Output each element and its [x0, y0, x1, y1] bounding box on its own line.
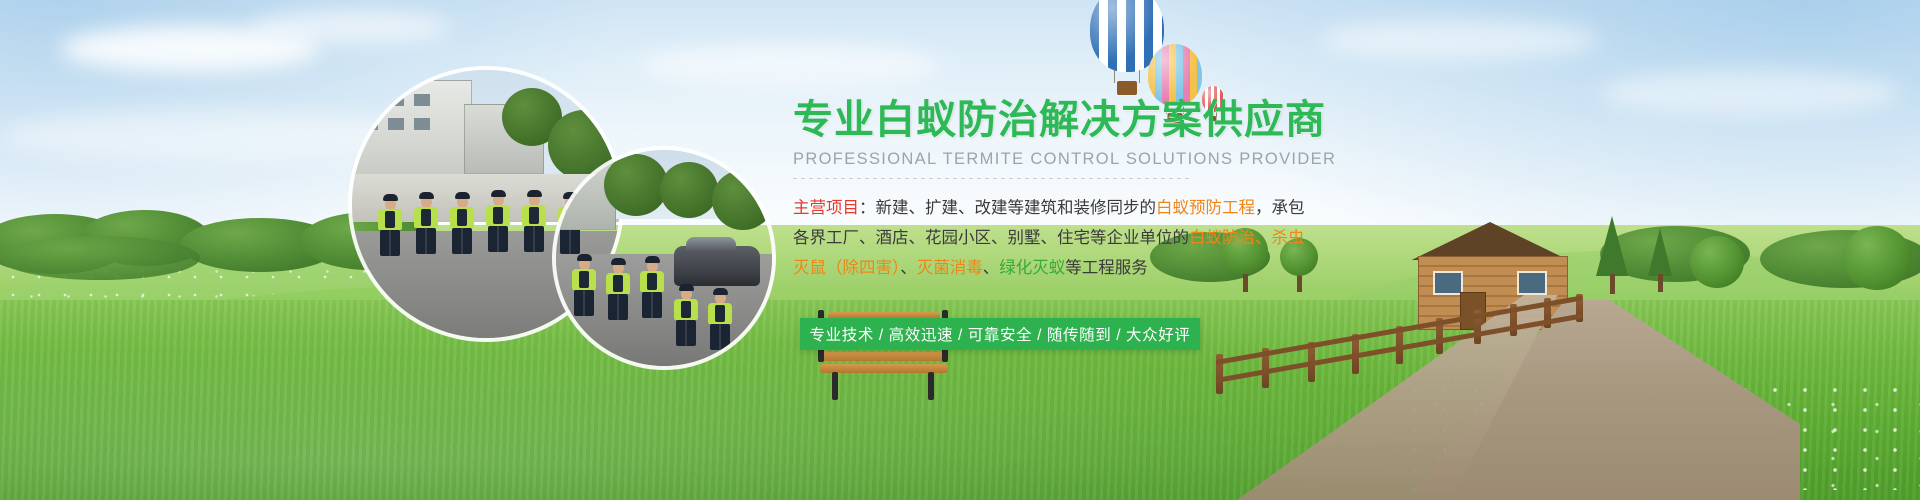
banner-copy: 专业白蚁防治解决方案供应商 PROFESSIONAL TERMITE CONTR… — [793, 98, 1793, 283]
cloud-4 — [1320, 20, 1600, 60]
bench-leg-right — [928, 372, 934, 400]
tree-foliage-4 — [1842, 226, 1912, 290]
photo-car — [674, 246, 760, 286]
features-cta-bar[interactable]: 专业技术 / 高效迅速 / 可靠安全 / 随传随到 / 大众好评 — [800, 318, 1200, 350]
description-paragraph: 主营项目：新建、扩建、改建等建筑和装修同步的白蚁预防工程，承包 各界工厂、酒店、… — [793, 193, 1213, 283]
photo-team-walking-street — [556, 150, 772, 366]
description-line-2: 各界工厂、酒店、花园小区、别墅、住宅等企业单位的白蚁防治、杀虫 — [793, 223, 1213, 253]
hero-banner: 专业白蚁防治解决方案供应商 PROFESSIONAL TERMITE CONTR… — [0, 0, 1920, 500]
divider — [793, 178, 1193, 179]
bench-seat-slat-1 — [822, 352, 946, 361]
photo-collage — [352, 58, 772, 368]
bench-leg-left — [832, 372, 838, 400]
cloud-2 — [250, 10, 450, 44]
description-line-3: 灭鼠（除四害）、灭菌消毒、绿化灭蚁等工程服务 — [793, 253, 1213, 283]
description-line-1: 主营项目：新建、扩建、改建等建筑和装修同步的白蚁预防工程，承包 — [793, 193, 1213, 223]
page-subtitle: PROFESSIONAL TERMITE CONTROL SOLUTIONS P… — [793, 150, 1793, 169]
hot-air-balloon-rainbow — [1148, 44, 1202, 106]
page-title: 专业白蚁防治解决方案供应商 — [793, 98, 1793, 143]
cabin-door — [1460, 292, 1486, 330]
